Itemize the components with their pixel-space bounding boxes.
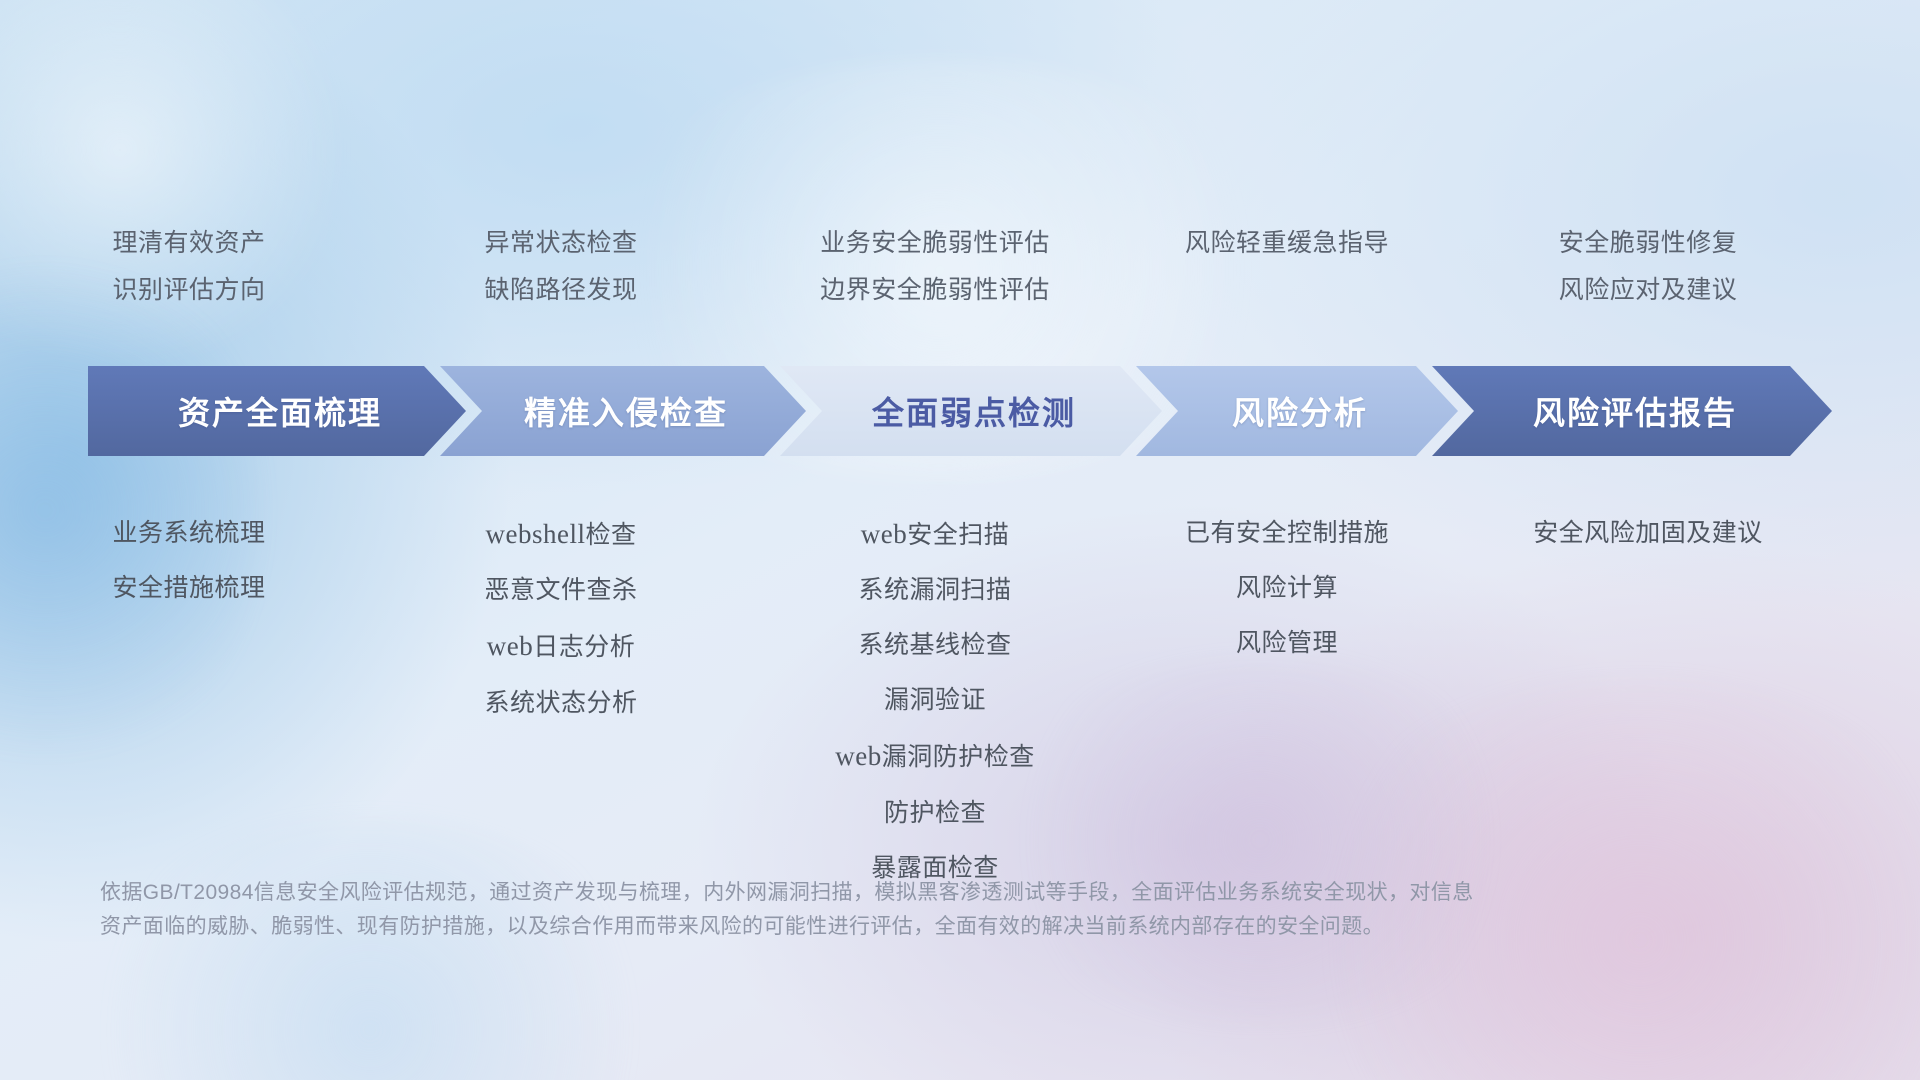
chevron-stage-risk-analysis[interactable]: 风险分析: [1136, 366, 1458, 456]
chevron-stage-risk-report[interactable]: 风险评估报告: [1432, 366, 1832, 456]
stage-item: 已有安全控制措施: [1185, 518, 1389, 548]
stage-item: 恶意文件查杀: [484, 575, 637, 605]
stage-top-notes-intrusion-check: 异常状态检查缺陷路径发现: [378, 228, 744, 307]
top-note: 业务安全脆弱性评估: [820, 228, 1050, 259]
stage-items-asset-inventory: 业务系统梳理安全措施梳理: [0, 500, 378, 603]
top-note: 风险应对及建议: [1559, 275, 1738, 306]
footer-description: 依据GB/T20984信息安全风险评估规范，通过资产发现与梳理，内外网漏洞扫描，…: [100, 876, 1800, 944]
chevron-stage-weakness-detection[interactable]: 全面弱点检测: [780, 366, 1162, 456]
stage-item: 风险计算: [1236, 573, 1338, 603]
stage-top-notes-risk-analysis: 风险轻重缓急指导: [1126, 228, 1448, 307]
stage-item: 业务系统梳理: [112, 518, 265, 548]
chevron-label: 精准入侵检查: [518, 388, 728, 434]
stage-items-risk-analysis: 已有安全控制措施风险计算风险管理: [1126, 500, 1448, 658]
chevron-stage-asset-inventory[interactable]: 资产全面梳理: [88, 366, 466, 456]
latin-token: webshell: [486, 519, 586, 549]
stage-item: 系统漏洞扫描: [858, 575, 1011, 605]
stage-top-notes-row: 理清有效资产识别评估方向异常状态检查缺陷路径发现业务安全脆弱性评估边界安全脆弱性…: [0, 228, 1920, 307]
latin-token: web: [487, 631, 533, 661]
chevron-label: 风险评估报告: [1527, 388, 1737, 434]
stage-item: web安全扫描: [861, 518, 1010, 550]
chevron-label: 风险分析: [1226, 388, 1368, 434]
footer-line-1: 依据GB/T20984信息安全风险评估规范，通过资产发现与梳理，内外网漏洞扫描，…: [100, 876, 1800, 910]
top-note: 缺陷路径发现: [484, 275, 637, 306]
chevron-label: 全面弱点检测: [866, 388, 1076, 434]
stage-item: web日志分析: [487, 630, 636, 662]
stage-items-row: 业务系统梳理安全措施梳理webshell检查恶意文件查杀web日志分析系统状态分…: [0, 500, 1920, 883]
footer-line-2: 资产面临的威胁、脆弱性、现有防护措施，以及综合作用而带来风险的可能性进行评估，全…: [100, 910, 1800, 944]
stage-item: 安全风险加固及建议: [1533, 518, 1763, 548]
stage-items-weakness-detection: web安全扫描系统漏洞扫描系统基线检查漏洞验证web漏洞防护检查防护检查暴露面检…: [744, 500, 1126, 883]
stage-item: web漏洞防护检查: [835, 740, 1035, 772]
stage-item: 安全措施梳理: [112, 573, 265, 603]
top-note: 理清有效资产: [112, 228, 265, 259]
process-chevron-band: 资产全面梳理精准入侵检查全面弱点检测风险分析风险评估报告: [88, 366, 1848, 456]
top-note: 识别评估方向: [112, 275, 265, 306]
stage-top-notes-risk-report: 安全脆弱性修复风险应对及建议: [1448, 228, 1848, 307]
stage-items-risk-report: 安全风险加固及建议: [1448, 500, 1848, 548]
stage-items-intrusion-check: webshell检查恶意文件查杀web日志分析系统状态分析: [378, 500, 744, 718]
latin-token: web: [861, 519, 907, 549]
top-note: 异常状态检查: [484, 228, 637, 259]
chevron-stage-intrusion-check[interactable]: 精准入侵检查: [440, 366, 806, 456]
stage-item: 系统基线检查: [858, 630, 1011, 660]
slide-canvas: 理清有效资产识别评估方向异常状态检查缺陷路径发现业务安全脆弱性评估边界安全脆弱性…: [0, 0, 1920, 1080]
latin-token: web: [835, 741, 881, 771]
top-note: 边界安全脆弱性评估: [820, 275, 1050, 306]
stage-item: 风险管理: [1236, 628, 1338, 658]
stage-top-notes-weakness-detection: 业务安全脆弱性评估边界安全脆弱性评估: [744, 228, 1126, 307]
top-note: 安全脆弱性修复: [1559, 228, 1738, 259]
top-note: 风险轻重缓急指导: [1185, 228, 1389, 259]
stage-item: 防护检查: [884, 798, 986, 828]
stage-item: 系统状态分析: [484, 688, 637, 718]
stage-item: 漏洞验证: [884, 685, 986, 715]
stage-top-notes-asset-inventory: 理清有效资产识别评估方向: [0, 228, 378, 307]
chevron-label: 资产全面梳理: [172, 388, 382, 434]
stage-item: webshell检查: [486, 518, 637, 550]
